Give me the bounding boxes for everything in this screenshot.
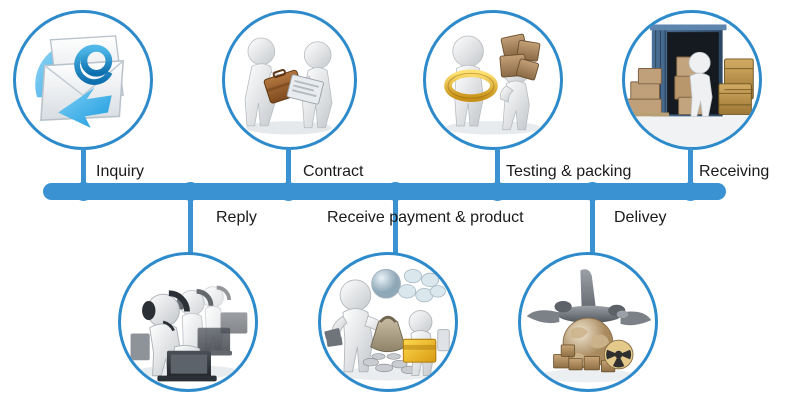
call-center-icon <box>121 255 255 389</box>
label-testing-packing: Testing & packing <box>506 164 631 180</box>
label-inquiry: Inquiry <box>96 164 144 180</box>
label-contract: Contract <box>303 164 363 180</box>
step-circle-delivery[interactable] <box>518 252 658 392</box>
step-circle-receiving[interactable] <box>622 10 762 150</box>
timeline-rail <box>43 183 726 200</box>
stem-contract <box>286 148 291 186</box>
handshake-deal-icon <box>225 13 354 147</box>
air-freight-icon <box>521 255 655 389</box>
money-payment-icon <box>321 255 455 389</box>
stem-delivery <box>590 196 595 254</box>
stem-receiving <box>688 148 693 186</box>
stem-inquiry <box>81 148 86 186</box>
label-receiving: Receiving <box>699 164 769 180</box>
stem-reply <box>188 196 193 254</box>
process-flow-diagram: Inquiry Contract Testing & packing Recei… <box>0 0 800 400</box>
step-circle-receive-payment[interactable] <box>318 252 458 392</box>
label-reply: Reply <box>216 210 257 226</box>
email-at-icon <box>16 13 150 147</box>
label-delivery: Delivey <box>614 210 666 226</box>
inspect-pack-icon <box>426 13 560 147</box>
step-circle-contract[interactable] <box>222 10 357 150</box>
step-circle-reply[interactable] <box>118 252 258 392</box>
stem-testing-packing <box>495 148 500 186</box>
step-circle-testing-packing[interactable] <box>423 10 563 150</box>
container-load-icon <box>625 13 759 147</box>
label-receive-payment-product: Receive payment & product <box>327 210 524 226</box>
step-circle-inquiry[interactable] <box>13 10 153 150</box>
